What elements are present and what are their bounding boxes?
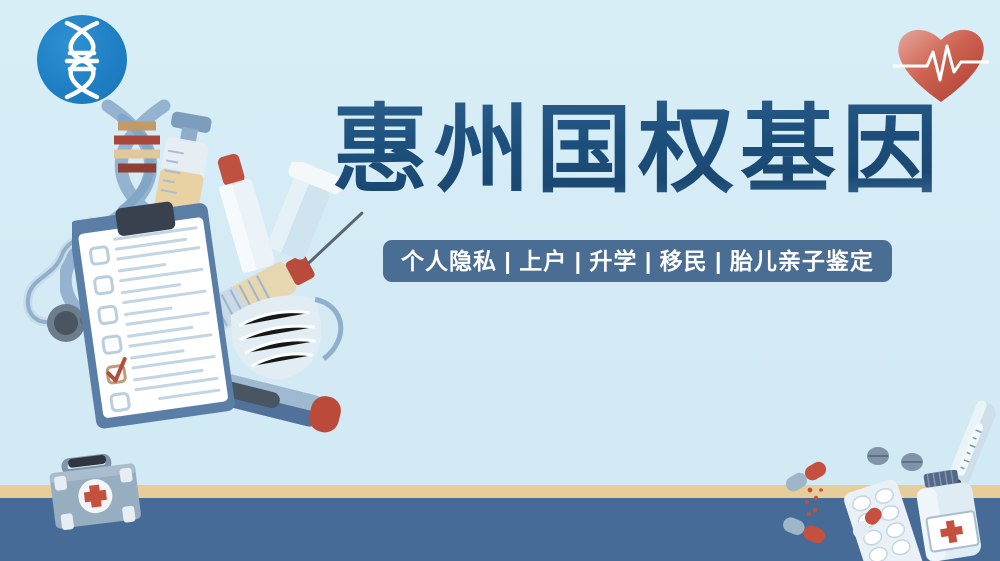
page-title: 惠州国权基因 xyxy=(332,96,952,206)
dna-helix-logo[interactable] xyxy=(37,15,127,104)
heart-ecg-icon xyxy=(893,22,989,106)
banner-canvas: 惠州国权基因 个人隐私 | 上户 | 升学 | 移民 | 胎儿亲子鉴定 xyxy=(0,0,1000,561)
clipboard-art xyxy=(72,200,272,430)
first-aid-kit-art xyxy=(44,452,148,534)
services-badge: 个人隐私 | 上户 | 升学 | 移民 | 胎儿亲子鉴定 xyxy=(383,240,892,282)
capsules-art xyxy=(760,440,940,550)
